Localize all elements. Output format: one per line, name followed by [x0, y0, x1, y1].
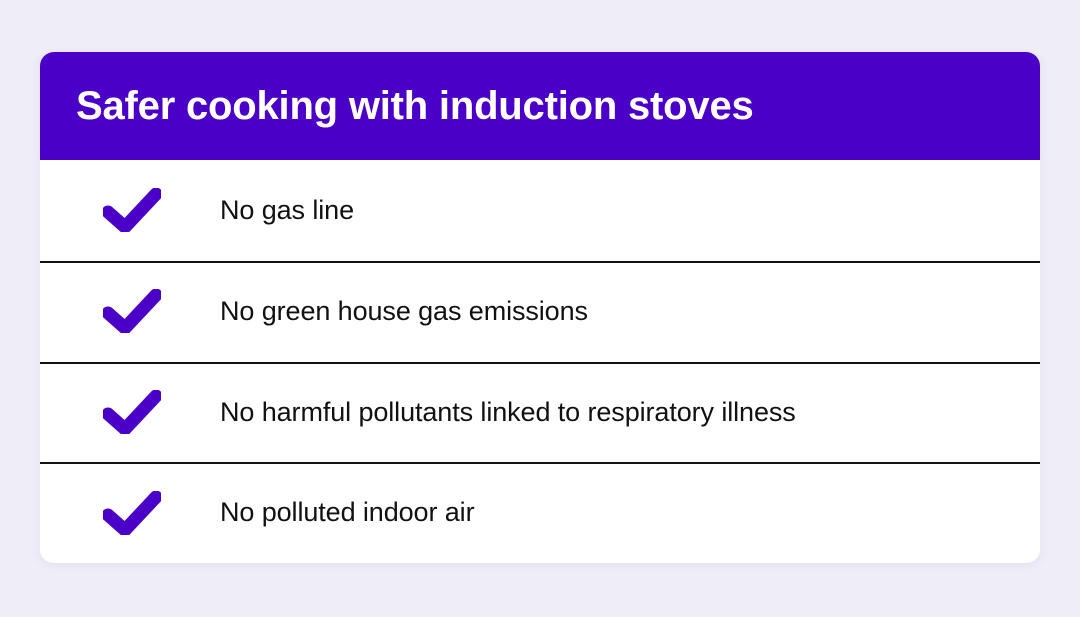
list-item: No gas line	[40, 160, 1040, 261]
check-icon	[103, 390, 161, 434]
check-cell	[40, 188, 220, 232]
check-cell	[40, 491, 220, 535]
list-item: No harmful pollutants linked to respirat…	[40, 362, 1040, 463]
check-icon	[103, 491, 161, 535]
list-item: No polluted indoor air	[40, 462, 1040, 563]
check-icon	[103, 289, 161, 333]
check-cell	[40, 289, 220, 333]
page-title: Safer cooking with induction stoves	[40, 86, 754, 126]
list-item-label: No green house gas emissions	[220, 295, 588, 327]
list-item-label: No harmful pollutants linked to respirat…	[220, 396, 796, 428]
benefits-card: Safer cooking with induction stoves No g…	[40, 52, 1040, 563]
list-item-label: No polluted indoor air	[220, 496, 474, 528]
list-item-label: No gas line	[220, 194, 354, 226]
check-icon	[103, 188, 161, 232]
list-item: No green house gas emissions	[40, 261, 1040, 362]
check-cell	[40, 390, 220, 434]
card-header: Safer cooking with induction stoves	[40, 52, 1040, 160]
benefits-list: No gas line No green house gas emissions…	[40, 160, 1040, 563]
page-root: Safer cooking with induction stoves No g…	[0, 0, 1080, 617]
